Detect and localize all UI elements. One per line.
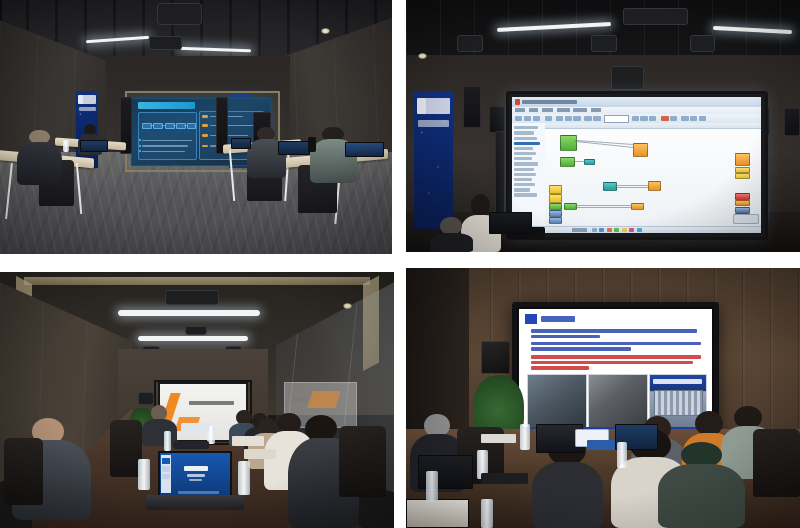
water-bottle: [164, 431, 172, 451]
ceiling-speaker-box: [149, 36, 182, 51]
slide-title-text: [184, 466, 208, 471]
photo-collage: [0, 0, 800, 528]
slide-header-block: [525, 314, 537, 324]
ceiling-projector: [157, 3, 202, 25]
slide-thumbnail-pane[interactable]: [161, 455, 171, 493]
banner-logo: [417, 98, 450, 115]
slide-body-line: [531, 329, 697, 333]
ceiling-speaker: [185, 326, 207, 336]
torso: [142, 419, 177, 446]
laptop-screen: [345, 142, 384, 157]
notebook: [244, 449, 276, 459]
slide-body-line: [531, 342, 701, 346]
water-bottle: [238, 461, 250, 494]
laptop: [80, 140, 107, 153]
laptop-screen: [231, 138, 251, 148]
roll-up-banner: [414, 91, 453, 230]
attendee: [142, 405, 177, 446]
wall-equipment-box: [481, 341, 511, 374]
line-array-speaker: [489, 106, 505, 133]
downlight: [418, 53, 427, 59]
photo-caption: [653, 379, 702, 383]
attendee: [16, 130, 63, 186]
banner-subtitle: [79, 107, 96, 111]
photo-bottom-left: [0, 272, 394, 528]
slide-photo-cabinet-wiring: [527, 374, 587, 428]
laptop-keyboard: [146, 495, 245, 510]
reflected-slide-text: [292, 398, 308, 402]
cove-lighting: [24, 277, 371, 285]
ceiling-projector: [623, 8, 688, 25]
laptop: [231, 138, 251, 148]
ceiling-speaker: [457, 35, 483, 52]
tissue-box-label: [587, 440, 615, 450]
chair: [4, 438, 43, 505]
laptop-screen: [406, 499, 469, 528]
laptop: [345, 142, 384, 157]
laptop: [278, 141, 309, 155]
desk-controller: [481, 434, 516, 443]
ceiling-speaker: [611, 66, 645, 91]
banner-logo: [78, 95, 96, 104]
slide-highlight-line: [531, 366, 589, 370]
wall-speaker: [784, 108, 800, 135]
ceiling-speaker: [591, 35, 617, 52]
head: [471, 194, 490, 217]
slide-thumbnail[interactable]: [162, 474, 170, 479]
ceiling-air-vent: [165, 290, 218, 305]
pendant-light: [138, 336, 248, 341]
laptop-screen: [489, 212, 532, 235]
line-array-speaker: [463, 86, 481, 128]
chair: [339, 426, 386, 498]
slide-highlight-line: [531, 355, 701, 359]
torso: [17, 142, 62, 186]
laptop-screen: [278, 141, 309, 155]
conference-speakerphone: [181, 423, 209, 433]
water-bottle: [63, 140, 69, 153]
ceiling-speaker: [690, 35, 716, 52]
reflected-slide-graphic: [307, 391, 341, 408]
attendee: [658, 442, 745, 528]
pendant-light: [118, 310, 260, 316]
laptop: [489, 212, 532, 235]
desk-microphone: [481, 473, 528, 483]
notebook: [232, 436, 264, 446]
torso: [658, 464, 745, 527]
desk-cup: [308, 137, 316, 152]
torso: [430, 233, 473, 252]
chair: [753, 429, 800, 497]
laptop-screen: [80, 140, 107, 153]
laptop: [406, 499, 469, 528]
display-bezel: [506, 91, 768, 241]
slide-thumbnail[interactable]: [162, 466, 170, 471]
slide-meta-text: [189, 479, 202, 481]
water-bottle: [481, 499, 493, 528]
slide-highlight-line: [531, 361, 693, 365]
slide-body-line: [531, 347, 631, 351]
laptop: [158, 451, 233, 497]
water-bottle: [520, 424, 530, 450]
desk-microphone: [173, 441, 208, 449]
water-bottle: [138, 459, 150, 490]
water-bottle: [617, 442, 627, 468]
water-bottle: [426, 471, 438, 502]
slide-thumbnail[interactable]: [162, 458, 170, 464]
laptop-screen[interactable]: [158, 451, 233, 497]
slide-subtitle-text: [187, 474, 205, 477]
photo-top-left: [0, 0, 392, 254]
photo-bottom-right: [406, 268, 800, 528]
slide-header-text: [541, 316, 576, 323]
banner-subtitle: [418, 120, 450, 127]
slide-status-strip: [178, 491, 219, 494]
wall-control-panel: [138, 392, 154, 404]
photo-top-right: [406, 0, 800, 252]
slide-body-line: [531, 335, 600, 339]
torso: [532, 462, 603, 528]
attendee: [430, 217, 473, 252]
